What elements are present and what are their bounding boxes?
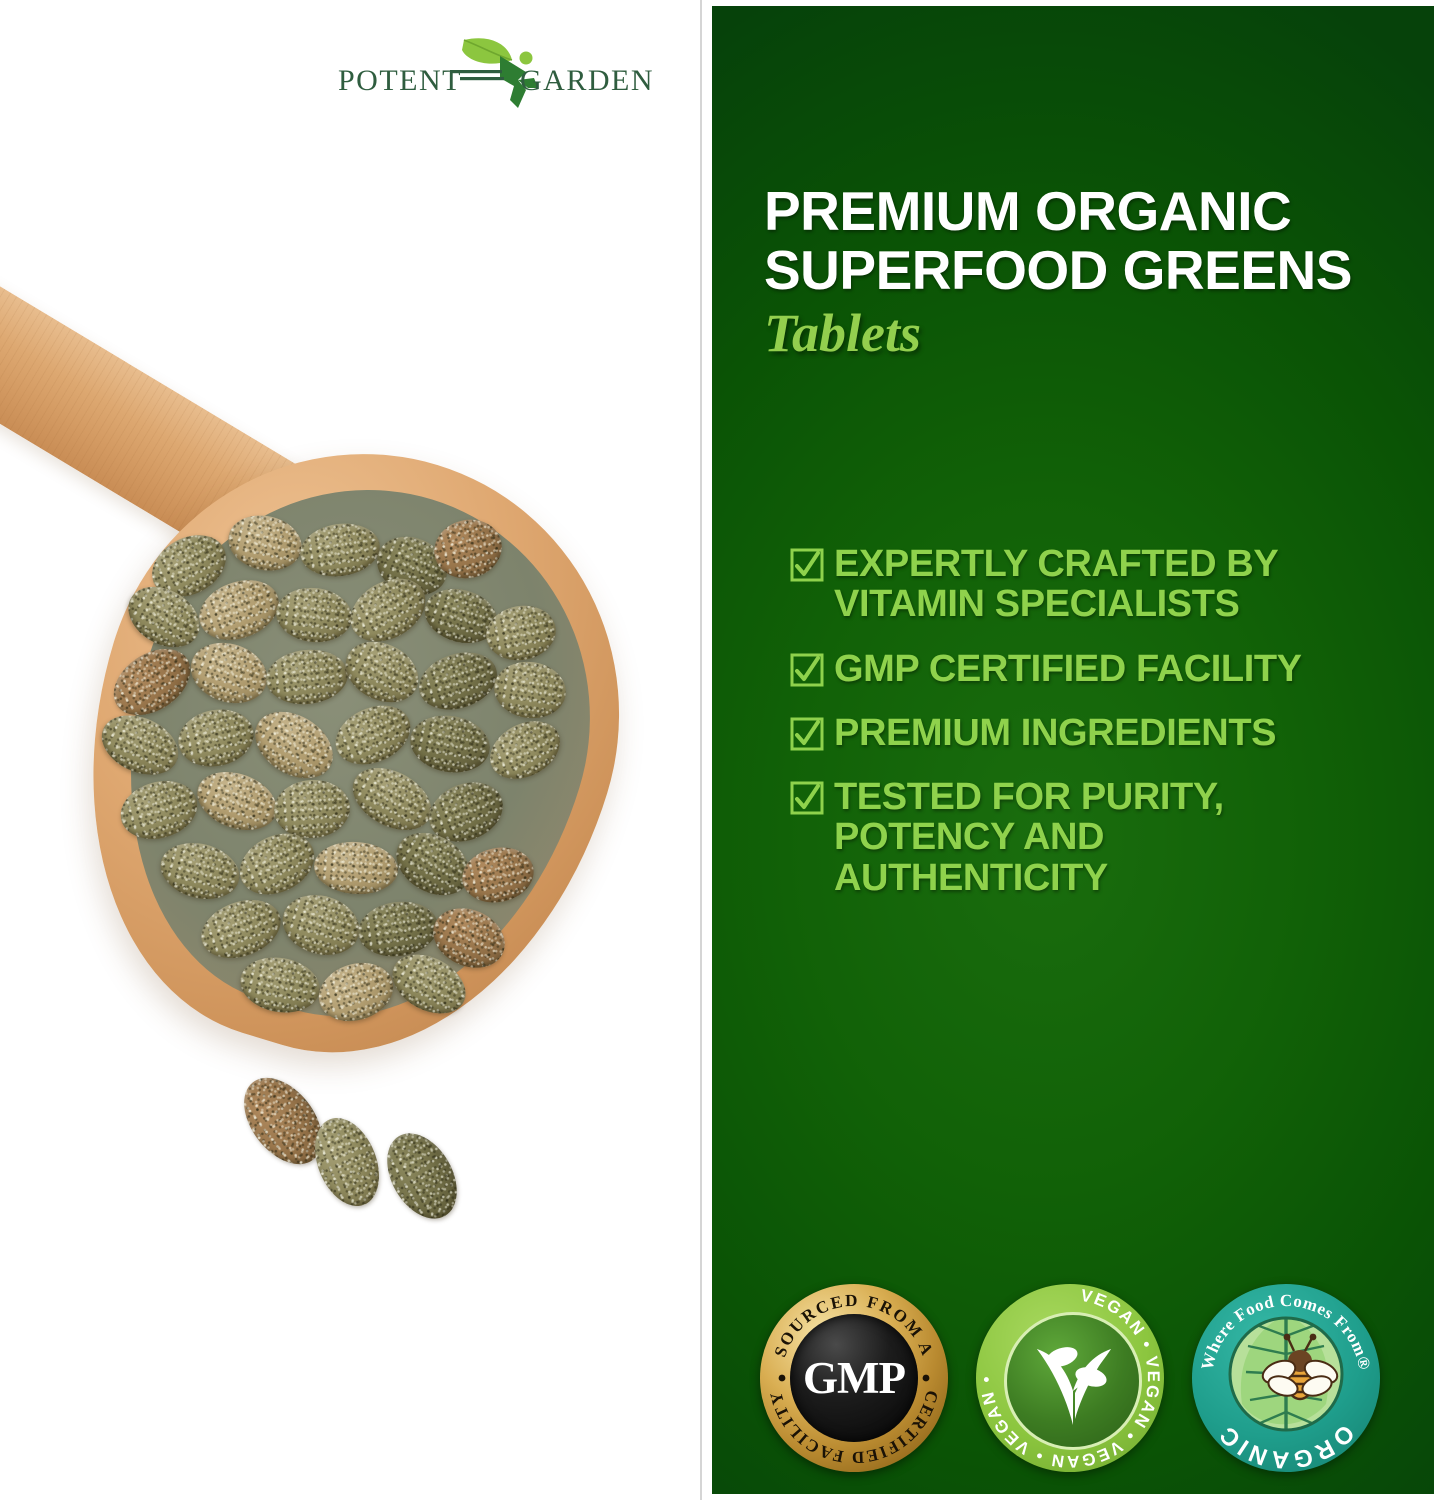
benefit-text: TESTED FOR PURITY, POTENCY AND AUTHENTIC… bbox=[834, 777, 1224, 898]
headline-block: PREMIUM ORGANIC SUPERFOOD GREENS Tablets bbox=[764, 182, 1424, 360]
vegan-seal-icon: VEGAN • VEGAN • VEGAN • VEGAN • bbox=[976, 1284, 1164, 1472]
v-leaf-icon bbox=[1007, 1315, 1139, 1447]
checkbox-checked-icon bbox=[790, 717, 824, 751]
headline-line-2: SUPERFOOD GREENS bbox=[764, 241, 1424, 300]
headline-line-1: PREMIUM ORGANIC bbox=[764, 182, 1424, 241]
organic-seal-content: Where Food Comes From® ORGANIC bbox=[1192, 1284, 1380, 1472]
benefit-line: EXPERTLY CRAFTED BY bbox=[834, 544, 1278, 584]
benefit-item: PREMIUM INGREDIENTS bbox=[790, 713, 1420, 753]
brand-name-part2: GARDEN bbox=[520, 64, 654, 98]
benefit-item: GMP CERTIFIED FACILITY bbox=[790, 649, 1420, 689]
gmp-label: GMP bbox=[803, 1356, 905, 1401]
benefit-text: GMP CERTIFIED FACILITY bbox=[834, 649, 1302, 689]
benefit-item: EXPERTLY CRAFTED BY VITAMIN SPECIALISTS bbox=[790, 544, 1420, 625]
gmp-seal-core: GMP bbox=[790, 1314, 918, 1442]
benefit-line: GMP CERTIFIED FACILITY bbox=[834, 649, 1302, 689]
certification-badges: SOURCED FROM A CERTIFIED FACILITY GMP bbox=[760, 1284, 1410, 1472]
tablets-in-spoon-photo bbox=[0, 120, 700, 1360]
benefit-text: PREMIUM INGREDIENTS bbox=[834, 713, 1276, 753]
benefit-line: PREMIUM INGREDIENTS bbox=[834, 713, 1276, 753]
vegan-seal-core bbox=[1004, 1312, 1142, 1450]
marketing-claims-panel: PREMIUM ORGANIC SUPERFOOD GREENS Tablets… bbox=[712, 6, 1434, 1494]
product-marketing-image: POTENT GARDEN bbox=[0, 0, 1442, 1500]
gmp-seal-icon: SOURCED FROM A CERTIFIED FACILITY GMP bbox=[760, 1284, 948, 1472]
headline-subtitle: Tablets bbox=[764, 306, 1424, 360]
checkbox-checked-icon bbox=[790, 781, 824, 815]
brand-logo: POTENT GARDEN bbox=[330, 38, 650, 110]
benefit-line: VITAMIN SPECIALISTS bbox=[834, 584, 1278, 624]
benefit-list: EXPERTLY CRAFTED BY VITAMIN SPECIALISTS … bbox=[790, 544, 1420, 922]
checkbox-checked-icon bbox=[790, 548, 824, 582]
where-food-comes-from-organic-seal-icon: Where Food Comes From® ORGANIC bbox=[1192, 1284, 1380, 1472]
product-photo-panel: POTENT GARDEN bbox=[0, 0, 702, 1500]
checkbox-checked-icon bbox=[790, 653, 824, 687]
benefit-line: POTENCY AND bbox=[834, 817, 1224, 857]
benefit-item: TESTED FOR PURITY, POTENCY AND AUTHENTIC… bbox=[790, 777, 1420, 898]
benefit-line: TESTED FOR PURITY, bbox=[834, 777, 1224, 817]
tablet-loose bbox=[373, 1121, 471, 1231]
benefit-line: AUTHENTICITY bbox=[834, 858, 1224, 898]
benefit-text: EXPERTLY CRAFTED BY VITAMIN SPECIALISTS bbox=[834, 544, 1278, 625]
